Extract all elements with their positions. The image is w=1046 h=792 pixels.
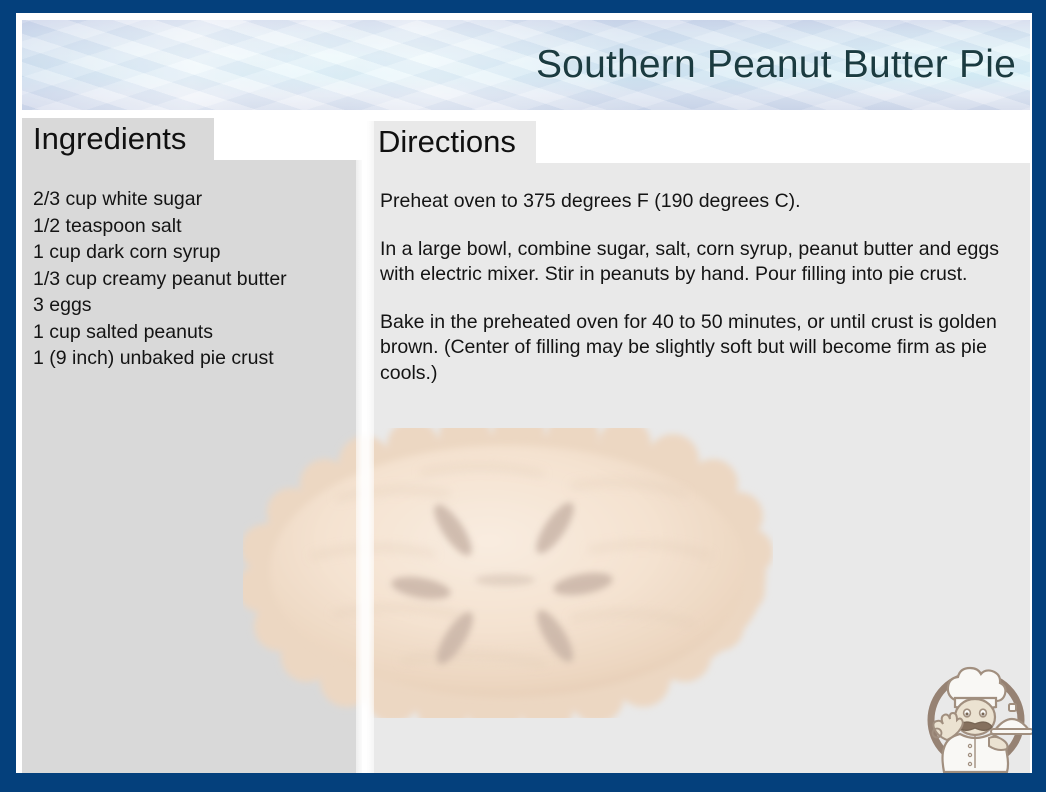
slide-canvas: Southern Peanut Butter Pie Ingredients 2… bbox=[16, 13, 1032, 773]
list-item: Bake in the preheated oven for 40 to 50 … bbox=[380, 310, 1014, 387]
list-item: 1/3 cup creamy peanut butter bbox=[33, 266, 348, 293]
list-item: In a large bowl, combine sugar, salt, co… bbox=[380, 237, 1014, 288]
list-item: 1 cup salted peanuts bbox=[33, 319, 348, 346]
directions-heading: Directions bbox=[367, 121, 536, 163]
ingredients-panel-body: 2/3 cup white sugar 1/2 teaspoon salt 1 … bbox=[22, 160, 362, 773]
direction-step-list: Preheat oven to 375 degrees F (190 degre… bbox=[380, 189, 1014, 386]
list-item: Preheat oven to 375 degrees F (190 degre… bbox=[380, 189, 1014, 215]
list-item: 1 (9 inch) unbaked pie crust bbox=[33, 345, 348, 372]
list-item: 3 eggs bbox=[33, 292, 348, 319]
ingredients-panel: Ingredients 2/3 cup white sugar 1/2 teas… bbox=[22, 118, 362, 773]
ingredient-list: 2/3 cup white sugar 1/2 teaspoon salt 1 … bbox=[33, 186, 348, 372]
list-item: 1/2 teaspoon salt bbox=[33, 213, 348, 240]
recipe-slide: Southern Peanut Butter Pie Ingredients 2… bbox=[0, 0, 1046, 792]
list-item: 1 cup dark corn syrup bbox=[33, 239, 348, 266]
directions-panel: Directions Preheat oven to 375 degrees F… bbox=[367, 121, 1030, 773]
list-item: 2/3 cup white sugar bbox=[33, 186, 348, 213]
page-title: Southern Peanut Butter Pie bbox=[536, 43, 1016, 87]
directions-panel-body: Preheat oven to 375 degrees F (190 degre… bbox=[367, 163, 1030, 773]
ingredients-heading: Ingredients bbox=[22, 118, 214, 160]
slide-title-bar: Southern Peanut Butter Pie bbox=[22, 20, 1030, 110]
